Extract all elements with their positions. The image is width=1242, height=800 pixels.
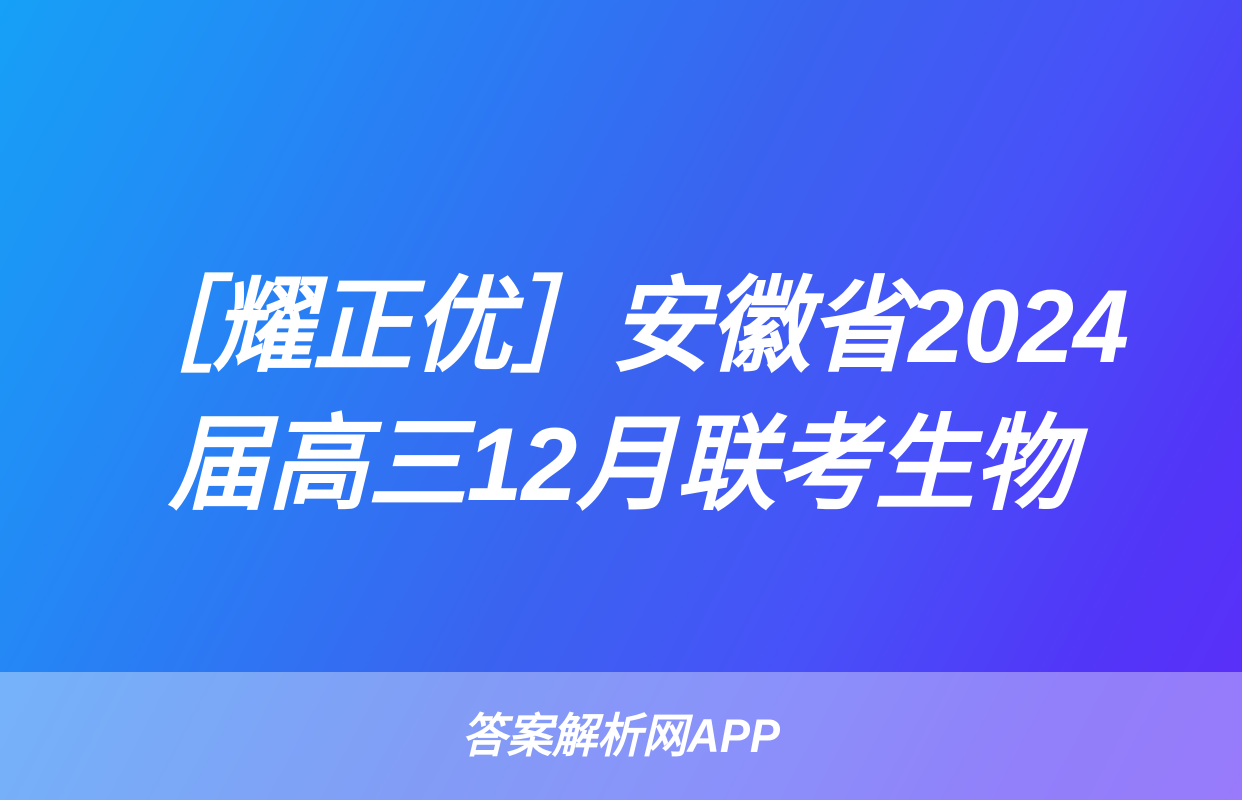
cover-title: ［耀正优］安徽省2024 届高三12月联考生物: [0, 258, 1242, 534]
cover-title-line-1: ［耀正优］安徽省2024: [114, 258, 1129, 396]
watermark-brand-label: 答案解析网APP: [462, 711, 780, 761]
watermark-strip: 答案解析网APP: [0, 672, 1242, 800]
cover-canvas: ［耀正优］安徽省2024 届高三12月联考生物 答案解析网APP: [0, 0, 1242, 800]
cover-title-line-2: 届高三12月联考生物: [169, 396, 1074, 534]
